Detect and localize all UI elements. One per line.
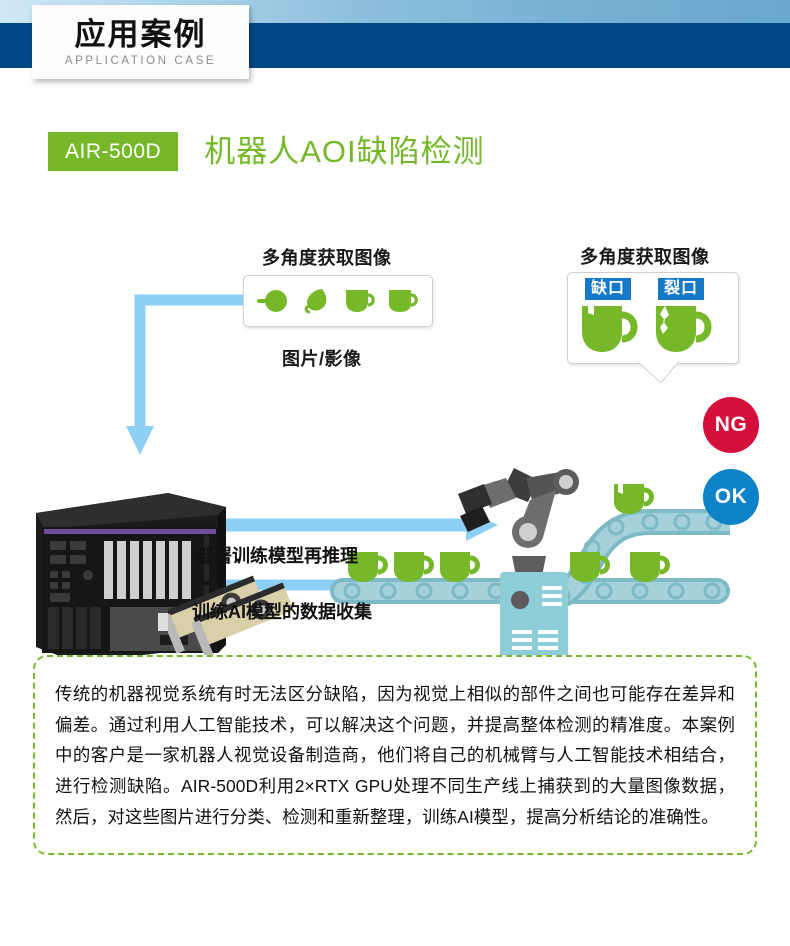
defect-cup-chip-icon bbox=[578, 302, 642, 356]
sample-cups-row bbox=[244, 276, 432, 326]
caption-multiangle-right: 多角度获取图像 bbox=[580, 243, 710, 269]
defect-cup-crack-icon bbox=[652, 302, 716, 356]
conveyor-system bbox=[330, 460, 730, 660]
cup-angled-view-icon bbox=[302, 287, 334, 315]
caption-multiangle-left: 多角度获取图像 bbox=[262, 244, 392, 270]
badge-title-en: APPLICATION CASE bbox=[65, 55, 216, 67]
status-badge-ok: OK bbox=[703, 469, 759, 525]
cup-side-view-icon bbox=[387, 288, 419, 314]
flow-label-deploy: 部署训练模型再推理 bbox=[196, 542, 358, 568]
application-case-page: 应用案例 APPLICATION CASE AIR-500D 机器人AOI缺陷检… bbox=[0, 0, 790, 946]
description-text: 传统的机器视觉系统有时无法区分缺陷，因为视觉上相似的部件之间也可能存在差异和偏差… bbox=[55, 679, 735, 832]
model-chip: AIR-500D bbox=[48, 132, 178, 171]
status-badge-ng: NG bbox=[703, 397, 759, 453]
case-title-row: AIR-500D 机器人AOI缺陷检测 bbox=[48, 132, 485, 171]
workflow-diagram: 多角度获取图像 图片/影 bbox=[0, 230, 790, 630]
cup-top-view-icon bbox=[257, 288, 291, 314]
cup-front-view-icon bbox=[344, 288, 376, 314]
image-samples-panel bbox=[243, 275, 433, 327]
caption-media: 图片/影像 bbox=[282, 345, 362, 371]
page-title: 机器人AOI缺陷检测 bbox=[204, 136, 484, 167]
badge-title-cn: 应用案例 bbox=[75, 19, 207, 52]
defect-tag-chip: 缺口 bbox=[585, 278, 631, 300]
application-case-badge: 应用案例 APPLICATION CASE bbox=[32, 5, 249, 79]
defect-tag-chip: 裂口 bbox=[658, 278, 704, 300]
description-box: 传统的机器视觉系统有时无法区分缺陷，因为视觉上相似的部件之间也可能存在差异和偏差… bbox=[33, 655, 757, 855]
flow-label-collect: 训练AI模型的数据收集 bbox=[192, 598, 372, 624]
header-banner: 应用案例 APPLICATION CASE bbox=[0, 0, 790, 80]
callout-tail bbox=[637, 361, 679, 383]
